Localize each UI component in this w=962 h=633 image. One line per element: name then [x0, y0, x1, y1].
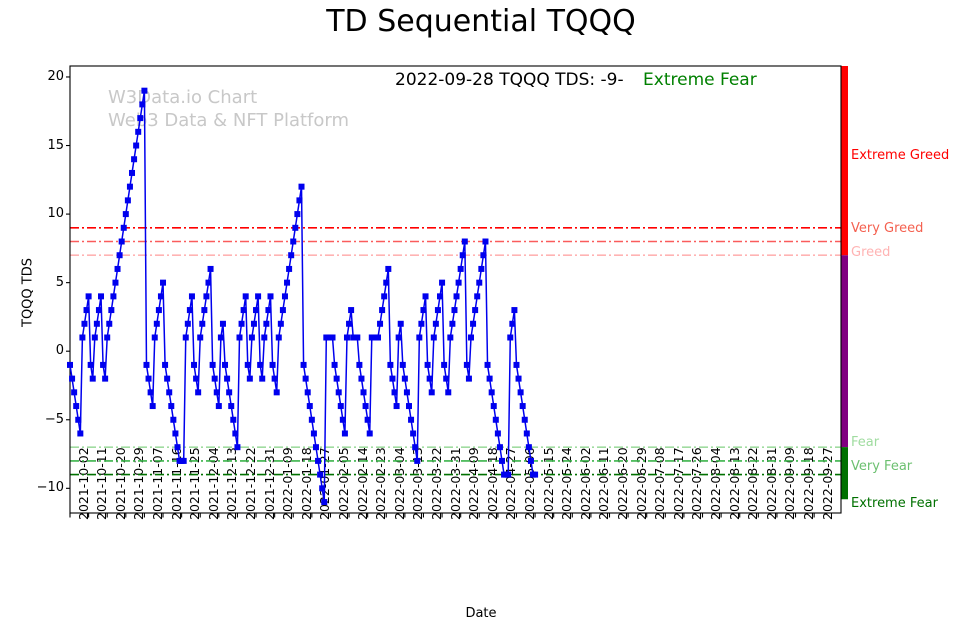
data-point: [88, 362, 94, 368]
data-point: [125, 197, 131, 203]
data-point: [354, 334, 360, 340]
data-point: [121, 225, 127, 231]
data-point: [257, 362, 263, 368]
data-point: [79, 334, 85, 340]
data-point: [133, 143, 139, 149]
data-point: [154, 321, 160, 327]
data-point: [414, 458, 420, 464]
data-point: [288, 252, 294, 258]
data-point: [187, 307, 193, 313]
data-point: [363, 403, 369, 409]
data-point: [361, 389, 367, 395]
data-point: [472, 307, 478, 313]
data-point: [119, 239, 125, 245]
data-point: [135, 129, 141, 135]
data-point: [81, 321, 87, 327]
data-point: [466, 376, 472, 382]
data-point: [522, 417, 528, 423]
data-point: [387, 362, 393, 368]
data-point: [400, 362, 406, 368]
data-point: [334, 376, 340, 382]
data-point: [247, 376, 253, 382]
data-point: [216, 403, 222, 409]
data-point: [307, 403, 313, 409]
data-point: [429, 389, 435, 395]
data-point: [117, 252, 123, 258]
data-point: [377, 321, 383, 327]
data-point: [392, 389, 398, 395]
data-point: [69, 376, 75, 382]
data-point: [456, 280, 462, 286]
data-point: [315, 458, 321, 464]
data-point: [311, 430, 317, 436]
data-point: [532, 472, 538, 478]
data-point: [86, 293, 92, 299]
data-point: [507, 334, 513, 340]
data-point: [439, 280, 445, 286]
data-point: [516, 376, 522, 382]
data-point: [435, 307, 441, 313]
data-point: [201, 307, 207, 313]
data-point: [150, 403, 156, 409]
data-point: [251, 321, 257, 327]
data-point: [174, 444, 180, 450]
data-point: [305, 389, 311, 395]
data-point: [112, 280, 118, 286]
data-point: [332, 362, 338, 368]
data-point: [220, 321, 226, 327]
data-point: [259, 376, 265, 382]
data-point: [75, 417, 81, 423]
data-point: [524, 430, 530, 436]
data-point: [509, 321, 515, 327]
data-point: [433, 321, 439, 327]
data-point: [385, 266, 391, 272]
data-point: [445, 389, 451, 395]
data-point: [303, 376, 309, 382]
data-point: [470, 321, 476, 327]
data-point: [437, 293, 443, 299]
data-point: [299, 184, 305, 190]
data-point: [73, 403, 79, 409]
data-point: [67, 362, 73, 368]
data-point: [447, 334, 453, 340]
data-point: [123, 211, 129, 217]
data-point: [330, 334, 336, 340]
data-point: [236, 334, 242, 340]
data-point: [170, 417, 176, 423]
data-point: [356, 362, 362, 368]
data-point: [499, 458, 505, 464]
data-point: [98, 293, 104, 299]
data-point: [416, 334, 422, 340]
data-point: [276, 334, 282, 340]
data-point: [234, 444, 240, 450]
data-point: [284, 280, 290, 286]
data-point: [272, 376, 278, 382]
data-point: [137, 115, 143, 121]
data-point: [210, 362, 216, 368]
data-point: [185, 321, 191, 327]
data-point: [458, 266, 464, 272]
data-point: [301, 362, 307, 368]
data-point: [146, 376, 152, 382]
data-point: [181, 458, 187, 464]
data-point: [344, 334, 350, 340]
data-point: [212, 376, 218, 382]
data-point: [406, 403, 412, 409]
data-point: [239, 321, 245, 327]
data-point: [241, 307, 247, 313]
data-point: [441, 362, 447, 368]
data-point: [263, 321, 269, 327]
data-point: [342, 430, 348, 436]
data-point: [148, 389, 154, 395]
data-point: [313, 444, 319, 450]
data-point: [460, 252, 466, 258]
data-point: [228, 403, 234, 409]
data-point: [232, 430, 238, 436]
data-point: [164, 376, 170, 382]
data-point: [462, 239, 468, 245]
data-point: [193, 376, 199, 382]
data-point: [476, 280, 482, 286]
td-sequential-chart: TD Sequential TQQQ 2022-09-28 TQQQ TDS: …: [0, 0, 962, 633]
data-point: [168, 403, 174, 409]
data-point: [427, 376, 433, 382]
data-point: [418, 321, 424, 327]
data-point: [265, 307, 271, 313]
data-point: [474, 293, 480, 299]
data-point: [166, 389, 172, 395]
data-point: [226, 389, 232, 395]
data-point: [319, 485, 325, 491]
data-point: [71, 389, 77, 395]
data-point: [96, 307, 102, 313]
data-point: [158, 293, 164, 299]
data-point: [108, 307, 114, 313]
data-point: [292, 225, 298, 231]
data-point: [425, 362, 431, 368]
data-point: [205, 280, 211, 286]
data-point: [528, 458, 534, 464]
data-point: [468, 334, 474, 340]
data-point: [423, 293, 429, 299]
data-point: [431, 334, 437, 340]
data-point: [110, 293, 116, 299]
data-point: [394, 403, 400, 409]
data-point: [520, 403, 526, 409]
data-point: [131, 156, 137, 162]
data-point: [224, 376, 230, 382]
data-point: [127, 184, 133, 190]
data-point: [381, 293, 387, 299]
data-point: [348, 307, 354, 313]
data-point: [243, 293, 249, 299]
data-point: [294, 211, 300, 217]
data-point: [513, 362, 519, 368]
data-point: [317, 472, 323, 478]
data-point: [480, 252, 486, 258]
data-point: [203, 293, 209, 299]
data-point: [84, 307, 90, 313]
data-point: [518, 389, 524, 395]
data-point: [280, 307, 286, 313]
data-point: [412, 444, 418, 450]
data-point: [526, 444, 532, 450]
data-point: [270, 362, 276, 368]
data-point: [94, 321, 100, 327]
data-point: [222, 362, 228, 368]
plot-frame: [70, 66, 841, 513]
data-point: [245, 362, 251, 368]
data-point: [485, 362, 491, 368]
data-point: [102, 376, 108, 382]
data-point: [141, 88, 147, 94]
data-point: [261, 334, 267, 340]
data-point: [346, 321, 352, 327]
data-point: [379, 307, 385, 313]
data-point: [274, 389, 280, 395]
data-point: [410, 430, 416, 436]
data-point: [249, 334, 255, 340]
data-point: [408, 417, 414, 423]
data-point: [495, 430, 501, 436]
data-point: [402, 376, 408, 382]
data-point: [404, 389, 410, 395]
data-point: [478, 266, 484, 272]
data-point: [454, 293, 460, 299]
data-point: [253, 307, 259, 313]
data-point: [286, 266, 292, 272]
data-point: [489, 389, 495, 395]
data-point: [230, 417, 236, 423]
data-point: [497, 444, 503, 450]
data-point: [156, 307, 162, 313]
data-point: [420, 307, 426, 313]
data-point: [375, 334, 381, 340]
data-point: [309, 417, 315, 423]
data-point: [183, 334, 189, 340]
data-point: [218, 334, 224, 340]
data-point: [491, 403, 497, 409]
data-point: [208, 266, 214, 272]
data-point: [90, 376, 96, 382]
data-point: [160, 280, 166, 286]
data-point: [100, 362, 106, 368]
data-point: [92, 334, 98, 340]
plot-canvas: [0, 0, 962, 633]
data-point: [195, 389, 201, 395]
data-point: [278, 321, 284, 327]
data-point: [152, 334, 158, 340]
data-point: [172, 430, 178, 436]
data-point: [505, 472, 511, 478]
data-point: [358, 376, 364, 382]
data-point: [451, 307, 457, 313]
data-point: [189, 293, 195, 299]
data-point: [365, 417, 371, 423]
data-point: [340, 417, 346, 423]
data-point: [396, 334, 402, 340]
data-point: [139, 101, 145, 107]
data-point: [511, 307, 517, 313]
data-point: [487, 376, 493, 382]
data-point: [338, 403, 344, 409]
data-point: [367, 430, 373, 436]
data-point: [191, 362, 197, 368]
data-point: [336, 389, 342, 395]
data-point: [143, 362, 149, 368]
data-point: [162, 362, 168, 368]
data-point: [443, 376, 449, 382]
data-point: [282, 293, 288, 299]
data-point: [449, 321, 455, 327]
data-point: [106, 321, 112, 327]
data-point: [199, 321, 205, 327]
data-point: [268, 293, 274, 299]
data-point: [389, 376, 395, 382]
data-point: [383, 280, 389, 286]
data-point: [321, 499, 327, 505]
data-point: [464, 362, 470, 368]
data-point: [290, 239, 296, 245]
data-point: [104, 334, 110, 340]
data-point: [296, 197, 302, 203]
data-series-line: [70, 91, 535, 502]
data-point: [214, 389, 220, 395]
data-point: [493, 417, 499, 423]
data-point: [482, 239, 488, 245]
data-point: [398, 321, 404, 327]
data-point: [115, 266, 121, 272]
data-point: [129, 170, 135, 176]
data-point: [197, 334, 203, 340]
data-point: [77, 430, 83, 436]
data-point: [255, 293, 261, 299]
